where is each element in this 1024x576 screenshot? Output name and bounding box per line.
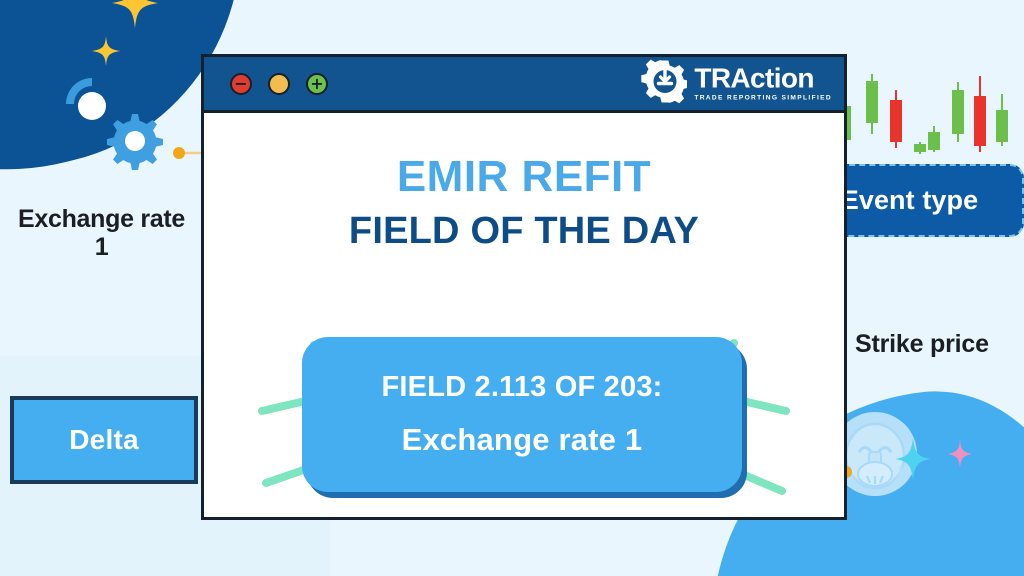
window-controls: − + [230,73,328,95]
sparkle-yellow-icon [112,0,158,33]
delta-box-label: Delta [69,424,138,456]
browser-window: − + TRAc [201,54,847,520]
sparkle-cyan-icon [895,438,931,485]
candlestick-chart-icon [834,54,1024,166]
minimize-button[interactable] [268,73,290,95]
poster-canvas: Exchange rate 1 Delta Event type [0,0,1024,576]
traction-logo: TRAction TRADE REPORTING SIMPLIFIED [641,58,832,109]
headline-line1: EMIR REFIT [204,155,844,199]
plus-icon: + [310,76,323,92]
minus-icon: − [234,76,247,92]
field-card-line2: Exchange rate 1 [402,422,643,458]
delta-box[interactable]: Delta [10,396,198,484]
gears-icon [36,62,176,172]
event-type-label: Event type [841,185,979,216]
window-body: EMIR REFIT FIELD OF THE DAY FIELD 2. [204,113,844,520]
headline-line2: FIELD OF THE DAY [204,212,844,250]
gear-logo-icon [641,58,687,109]
field-of-the-day-card: FIELD 2.113 OF 203: Exchange rate 1 [302,337,742,492]
logo-name: TRAction [694,65,832,93]
page-title: EMIR REFIT FIELD OF THE DAY [204,155,844,250]
logo-tagline: TRADE REPORTING SIMPLIFIED [694,96,832,103]
label-strike-price: Strike price [855,330,989,359]
label-exchange-rate: Exchange rate 1 [14,205,189,262]
field-card-line1: FIELD 2.113 OF 203: [381,371,662,404]
sparkle-pink-icon [948,440,972,473]
maximize-button[interactable]: + [306,73,328,95]
window-titlebar: − + TRAc [204,57,844,113]
close-button[interactable]: − [230,73,252,95]
sparkle-yellow-small-icon [92,36,120,71]
